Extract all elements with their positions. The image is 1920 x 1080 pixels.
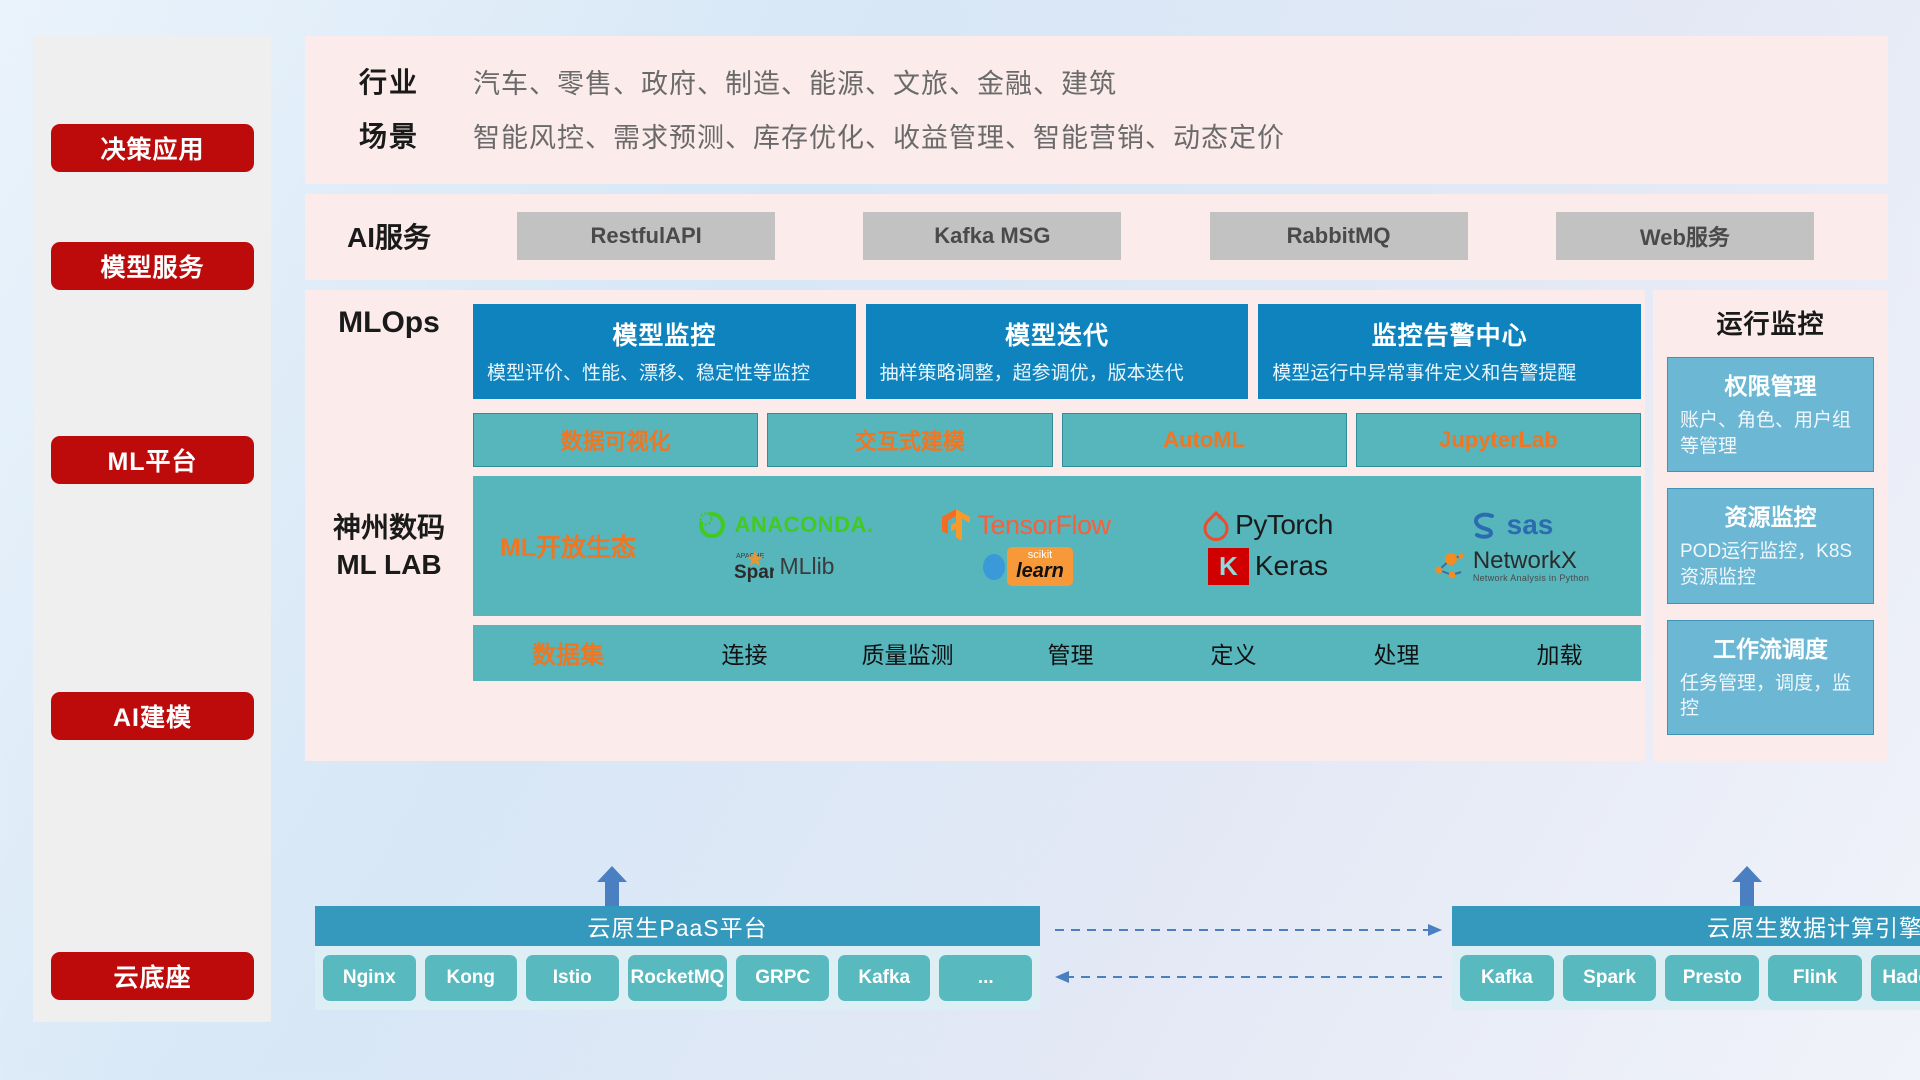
dataset-title: 数据集	[473, 635, 663, 670]
pytorch-wordmark: PyTorch	[1235, 509, 1333, 541]
industry-label: 行业	[305, 61, 473, 101]
bidirectional-connector-icon	[1050, 914, 1450, 994]
industry-values: 汽车、零售、政府、制造、能源、文旅、金融、建筑	[473, 62, 1117, 101]
cloud-data-engine-title: 云原生数据计算引擎	[1452, 906, 1920, 946]
networkx-tagline: Network Analysis in Python	[1473, 573, 1589, 583]
cloud-paas-title: 云原生PaaS平台	[315, 906, 1040, 946]
ml-lab-tool-automl[interactable]: AutoML	[1062, 413, 1347, 467]
cloud-paas-group: 云原生PaaS平台 Nginx Kong Istio RocketMQ GRPC…	[315, 906, 1040, 1010]
layer-pill-ai-modeling[interactable]: AI建模	[51, 692, 254, 740]
architecture-main: 行业 汽车、零售、政府、制造、能源、文旅、金融、建筑 场景 智能风控、需求预测、…	[305, 36, 1888, 697]
cloud-chip-rocketmq[interactable]: RocketMQ	[628, 955, 728, 1001]
learn-word: learn	[1016, 561, 1064, 581]
scenario-values: 智能风控、需求预测、库存优化、收益管理、智能营销、动态定价	[473, 116, 1285, 155]
layer-pill-label: AI建模	[113, 698, 192, 734]
dataset-item-load[interactable]: 加载	[1478, 636, 1641, 670]
decision-apps-band: 行业 汽车、零售、政府、制造、能源、文旅、金融、建筑 场景 智能风控、需求预测、…	[305, 36, 1888, 184]
card-desc: 模型运行中异常事件定义和告警提醒	[1272, 361, 1627, 387]
anaconda-wordmark: ANACONDA.	[735, 512, 874, 538]
ml-lab-section: 神州数码 ML LAB 数据可视化 交互式建模 AutoML JupyterLa…	[305, 399, 1645, 697]
ml-lab-label-line1: 神州数码	[333, 510, 445, 546]
cloud-chip-flink[interactable]: Flink	[1768, 955, 1862, 1001]
sas-logo: sas	[1467, 508, 1554, 542]
networkx-logo: NetworkX Network Analysis in Python	[1431, 549, 1589, 583]
cloud-chip-istio[interactable]: Istio	[526, 955, 619, 1001]
sas-mark-icon	[1467, 508, 1501, 542]
cloud-paas-chip-list: Nginx Kong Istio RocketMQ GRPC Kafka ...	[315, 946, 1040, 1010]
spark-mllib-logo: APACHE Spark MLlib	[734, 549, 835, 583]
ml-lab-label: 神州数码 ML LAB	[305, 413, 473, 681]
cloud-base-section: 云原生PaaS平台 Nginx Kong Istio RocketMQ GRPC…	[305, 884, 1888, 1044]
runtime-monitor-title: 运行监控	[1667, 304, 1874, 341]
cloud-data-engine-group: 云原生数据计算引擎 Kafka Spark Presto Flink Hadoo…	[1452, 906, 1920, 1010]
ai-service-chip-restfulapi[interactable]: RestfulAPI	[517, 212, 775, 260]
tensorflow-wordmark: TensorFlow	[977, 510, 1110, 541]
cloud-chip-kafka[interactable]: Kafka	[1460, 955, 1554, 1001]
cloud-chip-hadoop[interactable]: Hadoop	[1871, 955, 1920, 1001]
cloud-chip-presto[interactable]: Presto	[1665, 955, 1759, 1001]
layer-pill-ml-platform[interactable]: ML平台	[51, 436, 254, 484]
cloud-chip-spark[interactable]: Spark	[1563, 955, 1657, 1001]
dataset-band: 数据集 连接 质量监测 管理 定义 处理 加载	[473, 625, 1641, 681]
keras-logo: K Keras	[1208, 548, 1328, 585]
ecosystem-logo-grid: ANACONDA. TensorFlow	[663, 506, 1631, 586]
cloud-chip-more[interactable]: ...	[939, 955, 1032, 1001]
monitor-col-spacer	[1653, 399, 1888, 697]
card-title: 模型迭代	[880, 316, 1235, 352]
ml-lab-tool-jupyterlab[interactable]: JupyterLab	[1356, 413, 1641, 467]
layer-pill-label: 云底座	[113, 958, 191, 994]
band-divider	[305, 184, 1888, 194]
ml-lab-inner: 神州数码 ML LAB 数据可视化 交互式建模 AutoML JupyterLa…	[305, 413, 1645, 681]
industry-row: 行业 汽车、零售、政府、制造、能源、文旅、金融、建筑	[305, 54, 1888, 108]
dataset-item-manage[interactable]: 管理	[989, 636, 1152, 670]
scenario-label: 场景	[305, 115, 473, 155]
dataset-item-process[interactable]: 处理	[1315, 636, 1478, 670]
dataset-item-connect[interactable]: 连接	[663, 636, 826, 670]
cloud-chip-nginx[interactable]: Nginx	[323, 955, 416, 1001]
keras-mark-icon: K	[1208, 548, 1249, 585]
ai-service-chip-web-service[interactable]: Web服务	[1556, 212, 1814, 260]
dataset-item-quality[interactable]: 质量监测	[826, 636, 989, 670]
arrow-up-paas-icon	[595, 866, 629, 910]
ai-service-chip-rabbitmq[interactable]: RabbitMQ	[1210, 212, 1468, 260]
cloud-chip-grpc[interactable]: GRPC	[736, 955, 829, 1001]
layer-pill-decision-apps[interactable]: 决策应用	[51, 124, 254, 172]
ai-service-band: AI服务 RestfulAPI Kafka MSG RabbitMQ Web服务	[305, 194, 1888, 280]
pytorch-mark-icon	[1203, 509, 1229, 541]
keras-wordmark: Keras	[1255, 550, 1328, 582]
card-desc: 模型评价、性能、漂移、稳定性等监控	[487, 361, 842, 387]
ai-service-chip-kafka-msg[interactable]: Kafka MSG	[863, 212, 1121, 260]
arrow-up-data-engine-icon	[1730, 866, 1764, 910]
tensorflow-logo: TensorFlow	[941, 508, 1110, 542]
scikit-learn-logo: scikit learn	[979, 547, 1073, 586]
ml-lab-label-line2: ML LAB	[333, 547, 445, 583]
ai-modeling-band: 神州数码 ML LAB 数据可视化 交互式建模 AutoML JupyterLa…	[305, 399, 1888, 697]
layer-rail: 决策应用 模型服务 ML平台 AI建模 云底座	[33, 36, 271, 1022]
ai-service-label: AI服务	[305, 216, 473, 256]
ml-lab-tool-interactive-modeling[interactable]: 交互式建模	[767, 413, 1052, 467]
scenario-row: 场景 智能风控、需求预测、库存优化、收益管理、智能营销、动态定价	[305, 108, 1888, 162]
sas-wordmark: sas	[1507, 509, 1554, 541]
card-title: 权限管理	[1680, 367, 1861, 401]
layer-pill-label: 决策应用	[100, 130, 204, 166]
pytorch-logo: PyTorch	[1203, 509, 1333, 541]
mllib-wordmark: MLlib	[780, 553, 835, 580]
layer-pill-label: 模型服务	[100, 248, 204, 284]
ml-open-ecosystem-band: ML开放生态 ANACONDA.	[473, 476, 1641, 616]
cloud-data-engine-chip-list: Kafka Spark Presto Flink Hadoop Storm ..…	[1452, 946, 1920, 1010]
band-divider	[305, 280, 1888, 290]
ai-service-chip-list: RestfulAPI Kafka MSG RabbitMQ Web服务	[473, 212, 1888, 260]
card-desc: 抽样策略调整，超参调优，版本迭代	[880, 361, 1235, 387]
networkx-wordmark: NetworkX	[1473, 549, 1589, 573]
svg-text:Spark: Spark	[734, 562, 774, 583]
anaconda-mark-icon	[695, 508, 729, 542]
dataset-item-list: 连接 质量监测 管理 定义 处理 加载	[663, 636, 1641, 670]
ml-lab-tool-list: 数据可视化 交互式建模 AutoML JupyterLab	[473, 413, 1641, 467]
layer-pill-label: ML平台	[107, 442, 197, 478]
ml-open-ecosystem-label: ML开放生态	[473, 528, 663, 564]
ml-lab-tool-data-visualization[interactable]: 数据可视化	[473, 413, 758, 467]
card-title: 监控告警中心	[1272, 316, 1627, 352]
tensorflow-mark-icon	[941, 508, 971, 542]
anaconda-logo: ANACONDA.	[695, 508, 874, 542]
layer-pill-model-service[interactable]: 模型服务	[51, 242, 254, 290]
spark-mark-icon: APACHE Spark	[734, 549, 774, 583]
ml-lab-columns: 数据可视化 交互式建模 AutoML JupyterLab ML开放生态	[473, 413, 1641, 681]
layer-pill-cloud-base[interactable]: 云底座	[51, 952, 254, 1000]
networkx-mark-icon	[1431, 550, 1467, 582]
dataset-item-define[interactable]: 定义	[1152, 636, 1315, 670]
networkx-wordmark-group: NetworkX Network Analysis in Python	[1473, 549, 1589, 583]
card-title: 模型监控	[487, 316, 842, 352]
cloud-chip-kafka[interactable]: Kafka	[838, 955, 931, 1001]
scikit-learn-badge: scikit learn	[1007, 547, 1073, 586]
cloud-chip-kong[interactable]: Kong	[425, 955, 518, 1001]
